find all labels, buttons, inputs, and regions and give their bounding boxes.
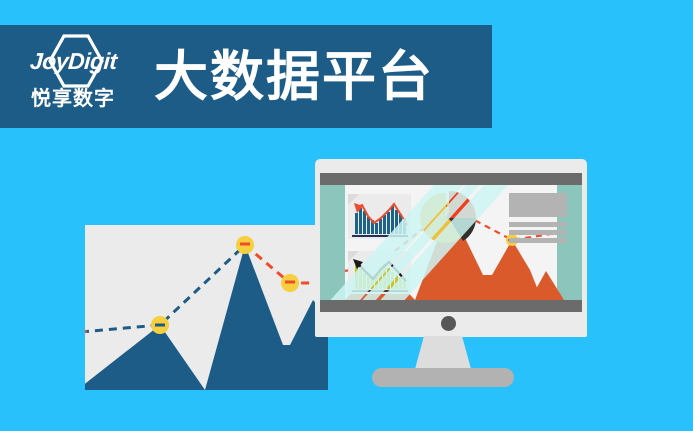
logo-wordmark: JoyDigit xyxy=(29,50,117,73)
monitor-stand xyxy=(372,336,514,388)
pie-chart[interactable] xyxy=(419,191,477,249)
mountain-chart-svg xyxy=(85,225,328,390)
bar-chart-card-olive[interactable] xyxy=(348,251,411,294)
text-line xyxy=(509,222,567,227)
monitor-screen xyxy=(320,185,582,300)
mountain-area-chart-panel xyxy=(85,225,328,390)
page-title: 大数据平台 xyxy=(154,50,434,104)
mountain-shape xyxy=(85,245,328,390)
axis-line xyxy=(352,290,408,292)
logo-subtitle: 悦享数字 xyxy=(31,89,115,109)
card-fold-corner xyxy=(348,251,359,262)
pie-slice-red xyxy=(449,191,476,218)
power-button-icon[interactable] xyxy=(441,316,456,331)
monitor-graphic xyxy=(315,159,587,337)
axis-line xyxy=(352,235,408,237)
poster-canvas: JoyDigit 悦享数字 大数据平台 xyxy=(0,0,693,431)
text-line xyxy=(509,238,567,243)
text-block xyxy=(509,193,567,241)
monitor-bezel-bottom xyxy=(320,300,582,312)
header-banner: JoyDigit 悦享数字 大数据平台 xyxy=(0,25,492,128)
image-placeholder xyxy=(509,193,567,217)
stand-base xyxy=(372,368,514,387)
bar-chart-card-blue[interactable] xyxy=(348,194,411,239)
card-fold-corner xyxy=(348,194,359,205)
stand-neck xyxy=(415,336,471,369)
brand-logo: JoyDigit 悦享数字 xyxy=(14,34,132,120)
text-line xyxy=(509,230,567,235)
monitor-bezel-top xyxy=(320,173,582,185)
